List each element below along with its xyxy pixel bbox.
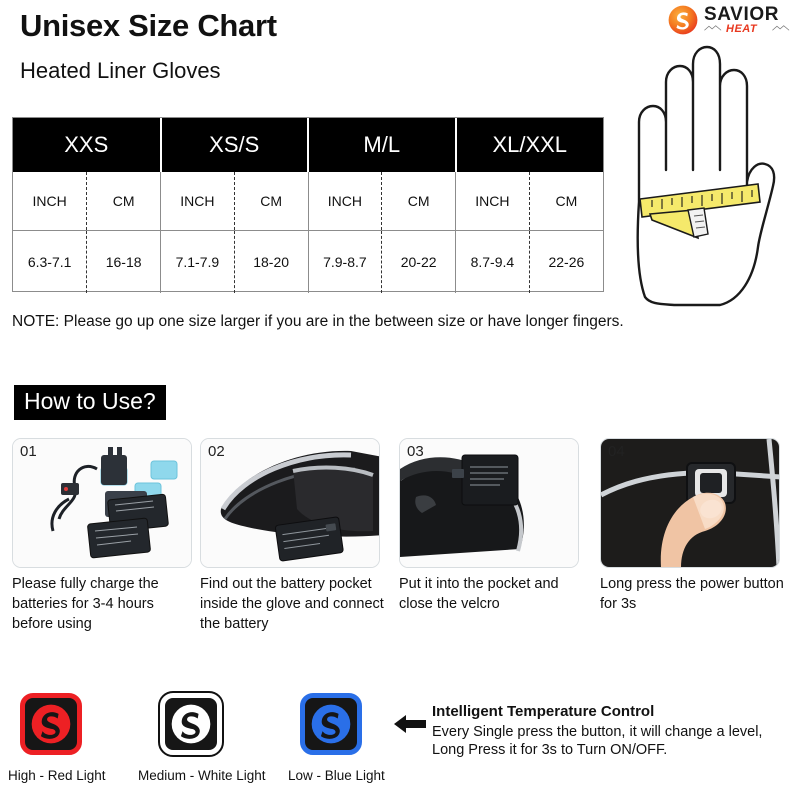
table-unit-row: INCH CM INCH CM INCH CM INCH CM <box>13 172 603 230</box>
step-caption-03: Put it into the pocket and close the vel… <box>399 574 585 614</box>
step-image-press-power-button: 04 <box>600 438 780 568</box>
step-caption-02: Find out the battery pocket inside the g… <box>200 574 386 634</box>
step-image-battery-into-pocket: 03 <box>399 438 579 568</box>
logo-tagline-text: HEAT <box>726 23 757 35</box>
unit-cell: INCH <box>456 172 530 230</box>
unit-cell: INCH <box>13 172 87 230</box>
hand-measurement-illustration <box>612 42 798 312</box>
page-title: Unisex Size Chart <box>20 8 277 44</box>
unit-cell: CM <box>87 172 161 230</box>
table-header-row: XXS XS/S M/L XL/XXL <box>13 118 603 172</box>
led-indicator-medium <box>160 693 222 755</box>
value-cell: 18-20 <box>234 230 308 293</box>
size-note: NOTE: Please go up one size larger if yo… <box>12 313 624 331</box>
savior-s-swirl-icon <box>668 5 698 35</box>
savior-s-led-icon <box>310 703 352 745</box>
mountain-left-icon <box>704 24 722 32</box>
unit-cell: INCH <box>161 172 235 230</box>
value-cell: 22-26 <box>529 230 603 293</box>
page-subtitle: Heated Liner Gloves <box>20 58 221 84</box>
value-cell: 6.3-7.1 <box>13 230 87 293</box>
temperature-control-line2: Long Press it for 3s to Turn ON/OFF. <box>432 742 667 758</box>
size-chart-infographic: Unisex Size Chart Heated Liner Gloves SA… <box>0 0 800 788</box>
temperature-control-line1: Every Single press the button, it will c… <box>432 724 762 740</box>
step-number: 04 <box>608 443 625 460</box>
savior-s-led-icon <box>170 703 212 745</box>
size-header-ml: M/L <box>308 118 456 172</box>
led-caption-low: Low - Blue Light <box>288 768 385 783</box>
unit-cell: CM <box>529 172 603 230</box>
unit-cell: CM <box>234 172 308 230</box>
savior-s-led-icon <box>30 703 72 745</box>
how-to-use-heading: How to Use? <box>14 385 166 420</box>
size-chart-table: XXS XS/S M/L XL/XXL INCH CM INCH CM INCH… <box>12 117 604 292</box>
glove-pocket-graphic <box>201 439 380 568</box>
led-caption-high: High - Red Light <box>8 768 106 783</box>
value-cell: 7.1-7.9 <box>161 230 235 293</box>
temperature-control-title: Intelligent Temperature Control <box>432 703 654 720</box>
value-cell: 20-22 <box>382 230 456 293</box>
table-value-row: 6.3-7.1 16-18 7.1-7.9 18-20 7.9-8.7 20-2… <box>13 230 603 293</box>
step-card-02: 02 <box>200 438 380 568</box>
arrow-left-icon <box>392 713 428 735</box>
unit-cell: INCH <box>308 172 382 230</box>
unit-cell: CM <box>382 172 456 230</box>
brand-logo: SAVIOR HEAT <box>668 4 796 38</box>
charger-batteries-graphic <box>13 439 192 568</box>
value-cell: 8.7-9.4 <box>456 230 530 293</box>
led-indicator-low <box>300 693 362 755</box>
size-header-xlxxl: XL/XXL <box>456 118 604 172</box>
step-card-03: 03 <box>399 438 579 568</box>
size-header-xss: XS/S <box>161 118 309 172</box>
step-number: 01 <box>20 443 37 460</box>
battery-pocket-graphic <box>400 439 579 568</box>
step-card-04: 04 <box>600 438 780 568</box>
mountain-right-icon <box>772 24 790 32</box>
value-cell: 7.9-8.7 <box>308 230 382 293</box>
step-caption-04: Long press the power button for 3s <box>600 574 786 614</box>
step-number: 03 <box>407 443 424 460</box>
step-card-01: 01 <box>12 438 192 568</box>
step-caption-01: Please fully charge the batteries for 3-… <box>12 574 198 634</box>
value-cell: 16-18 <box>87 230 161 293</box>
step-image-charger-and-batteries: 01 <box>12 438 192 568</box>
step-image-glove-battery-pocket: 02 <box>200 438 380 568</box>
led-indicator-high <box>20 693 82 755</box>
size-header-xxs: XXS <box>13 118 161 172</box>
power-button-press-graphic <box>601 439 780 568</box>
step-number: 02 <box>208 443 225 460</box>
led-caption-medium: Medium - White Light <box>138 768 266 783</box>
